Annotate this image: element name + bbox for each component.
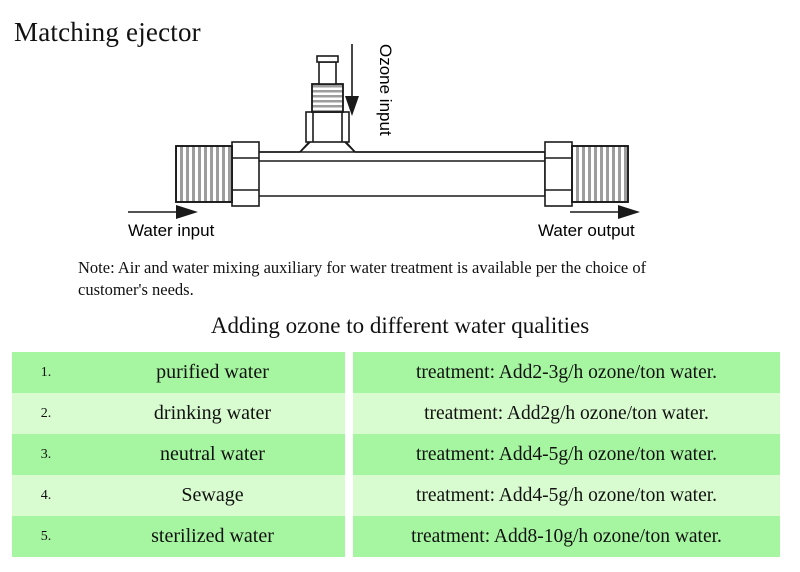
table-row: 4.Sewagetreatment: Add4-5g/h ozone/ton w… xyxy=(12,475,780,516)
treatment-dosage: treatment: Add2g/h ozone/ton water. xyxy=(353,393,780,434)
note-text: Note: Air and water mixing auxiliary for… xyxy=(78,257,688,301)
right-thread xyxy=(572,146,628,202)
water-output-label: Water output xyxy=(538,221,635,240)
water-quality-name: sterilized water xyxy=(80,516,345,557)
column-gap xyxy=(345,352,353,393)
right-hex-nut xyxy=(545,142,572,206)
left-thread xyxy=(176,146,232,202)
treatment-dosage: treatment: Add4-5g/h ozone/ton water. xyxy=(353,434,780,475)
column-gap xyxy=(345,516,353,557)
water-quality-name: Sewage xyxy=(80,475,345,516)
row-index: 1. xyxy=(12,352,80,393)
row-index: 5. xyxy=(12,516,80,557)
ejector-assembly-diagram: Ozone input Water input Water output xyxy=(0,0,800,250)
water-input-arrow xyxy=(128,205,198,219)
water-quality-table: 1.purified watertreatment: Add2-3g/h ozo… xyxy=(12,352,780,557)
ozone-input-arrow xyxy=(345,44,359,116)
table-row: 2.drinking watertreatment: Add2g/h ozone… xyxy=(12,393,780,434)
water-quality-name: drinking water xyxy=(80,393,345,434)
row-index: 2. xyxy=(12,393,80,434)
row-index: 4. xyxy=(12,475,80,516)
water-quality-table-body: 1.purified watertreatment: Add2-3g/h ozo… xyxy=(12,352,780,557)
left-hex-nut xyxy=(232,142,259,206)
water-quality-name: purified water xyxy=(80,352,345,393)
water-input-label: Water input xyxy=(128,221,215,240)
ejector-body xyxy=(258,141,545,196)
ozone-inlet-port xyxy=(306,56,349,142)
ozone-input-label: Ozone input xyxy=(376,44,395,136)
treatment-dosage: treatment: Add8-10g/h ozone/ton water. xyxy=(353,516,780,557)
table-heading: Adding ozone to different water qualitie… xyxy=(0,313,800,339)
table-row: 1.purified watertreatment: Add2-3g/h ozo… xyxy=(12,352,780,393)
table-row: 5.sterilized watertreatment: Add8-10g/h … xyxy=(12,516,780,557)
water-quality-name: neutral water xyxy=(80,434,345,475)
treatment-dosage: treatment: Add2-3g/h ozone/ton water. xyxy=(353,352,780,393)
water-output-arrow xyxy=(570,205,640,219)
column-gap xyxy=(345,475,353,516)
column-gap xyxy=(345,393,353,434)
row-index: 3. xyxy=(12,434,80,475)
treatment-dosage: treatment: Add4-5g/h ozone/ton water. xyxy=(353,475,780,516)
table-row: 3.neutral watertreatment: Add4-5g/h ozon… xyxy=(12,434,780,475)
column-gap xyxy=(345,434,353,475)
